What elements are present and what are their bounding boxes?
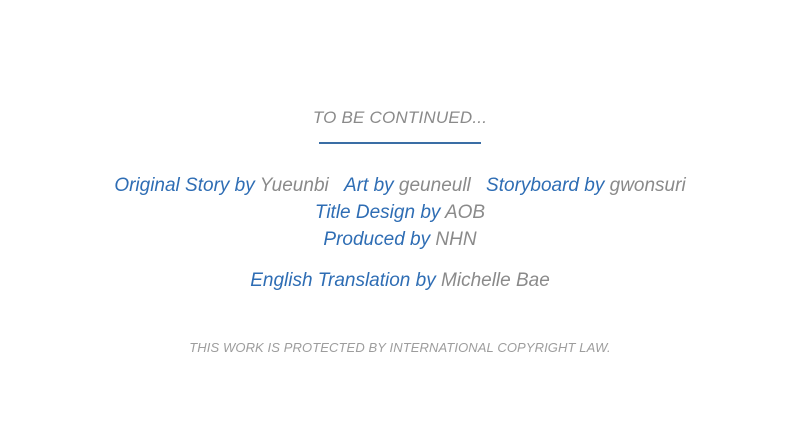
credit-name: AOB: [445, 202, 485, 223]
credit-entry: Produced by NHN: [323, 229, 476, 250]
credit-entry: Original Story by Yueunbi: [114, 175, 334, 196]
credit-name: Yueunbi: [260, 175, 329, 196]
copyright-notice: THIS WORK IS PROTECTED BY INTERNATIONAL …: [0, 340, 800, 355]
credit-role: Storyboard by: [486, 175, 604, 196]
credit-role: Art by: [344, 175, 394, 196]
credit-name: Michelle Bae: [441, 270, 550, 291]
horizontal-divider: [319, 142, 481, 144]
credits-row-4: English Translation by Michelle Bae: [0, 267, 800, 294]
end-card: TO BE CONTINUED... Original Story by Yue…: [0, 0, 800, 426]
credits-block: Original Story by Yueunbi Art by geuneul…: [0, 172, 800, 294]
credit-name: NHN: [435, 229, 476, 250]
credit-role: Produced by: [323, 229, 430, 250]
credit-entry: English Translation by Michelle Bae: [250, 270, 550, 291]
credits-row-3: Produced by NHN: [0, 226, 800, 253]
credit-name: gwonsuri: [610, 175, 686, 196]
credit-role: English Translation by: [250, 270, 436, 291]
credit-entry: Art by geuneull: [344, 175, 476, 196]
credit-entry: Title Design by AOB: [315, 202, 485, 223]
credit-role: Title Design by: [315, 202, 441, 223]
credits-row-2: Title Design by AOB: [0, 199, 800, 226]
to-be-continued-text: TO BE CONTINUED...: [0, 108, 800, 128]
divider-container: [0, 140, 800, 144]
credit-name: geuneull: [399, 175, 471, 196]
credits-row-1: Original Story by Yueunbi Art by geuneul…: [0, 172, 800, 199]
credit-entry: Storyboard by gwonsuri: [486, 175, 686, 196]
credit-role: Original Story by: [114, 175, 254, 196]
